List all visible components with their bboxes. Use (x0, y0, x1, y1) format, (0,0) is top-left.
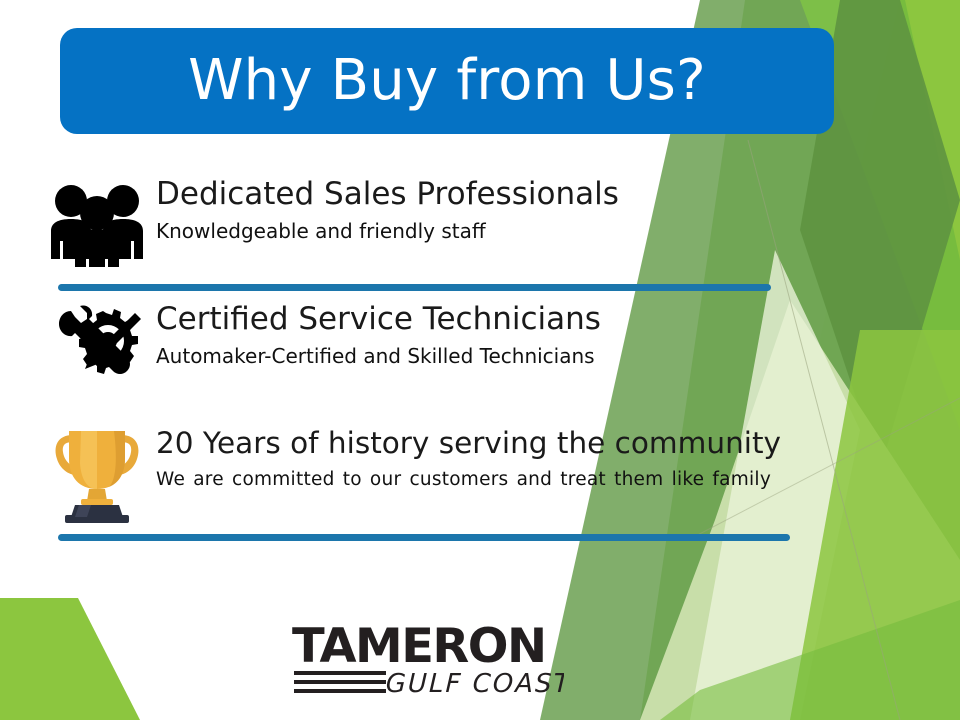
trophy-icon (38, 420, 156, 528)
slide-canvas: Why Buy from Us? (0, 0, 960, 720)
deco-panel-green-bottom (660, 600, 960, 720)
feature-subtext: Automaker-Certified and Skilled Technici… (156, 345, 960, 368)
feature-heading: 20 Years of history serving the communit… (156, 428, 960, 460)
group-of-people-icon (38, 170, 156, 278)
wrench-screwdriver-gear-icon (38, 295, 156, 403)
feature-subtext: Knowledgeable and friendly staff (156, 220, 960, 243)
feature-heading: Dedicated Sales Professionals (156, 178, 960, 211)
title-banner: Why Buy from Us? (60, 28, 834, 134)
logo-wordmark: TAMERON (292, 622, 546, 674)
feature-subtext: We are committed to our customers and tr… (156, 469, 960, 490)
feature-heading: Certified Service Technicians (156, 303, 960, 336)
section-divider (58, 284, 771, 291)
logo-tagline: GULF COAST (385, 669, 564, 698)
deco-wedge-bottom-left (0, 598, 140, 720)
logo-stripes (294, 673, 386, 691)
tameron-gulf-coast-logo: TAMERON GULF COAST (292, 622, 564, 698)
feature-row: Dedicated Sales Professionals Knowledgea… (0, 170, 960, 295)
feature-list: Dedicated Sales Professionals Knowledgea… (0, 170, 960, 545)
feature-row: 20 Years of history serving the communit… (0, 420, 960, 545)
page-title: Why Buy from Us? (188, 53, 706, 109)
feature-row: Certified Service Technicians Automaker-… (0, 295, 960, 420)
